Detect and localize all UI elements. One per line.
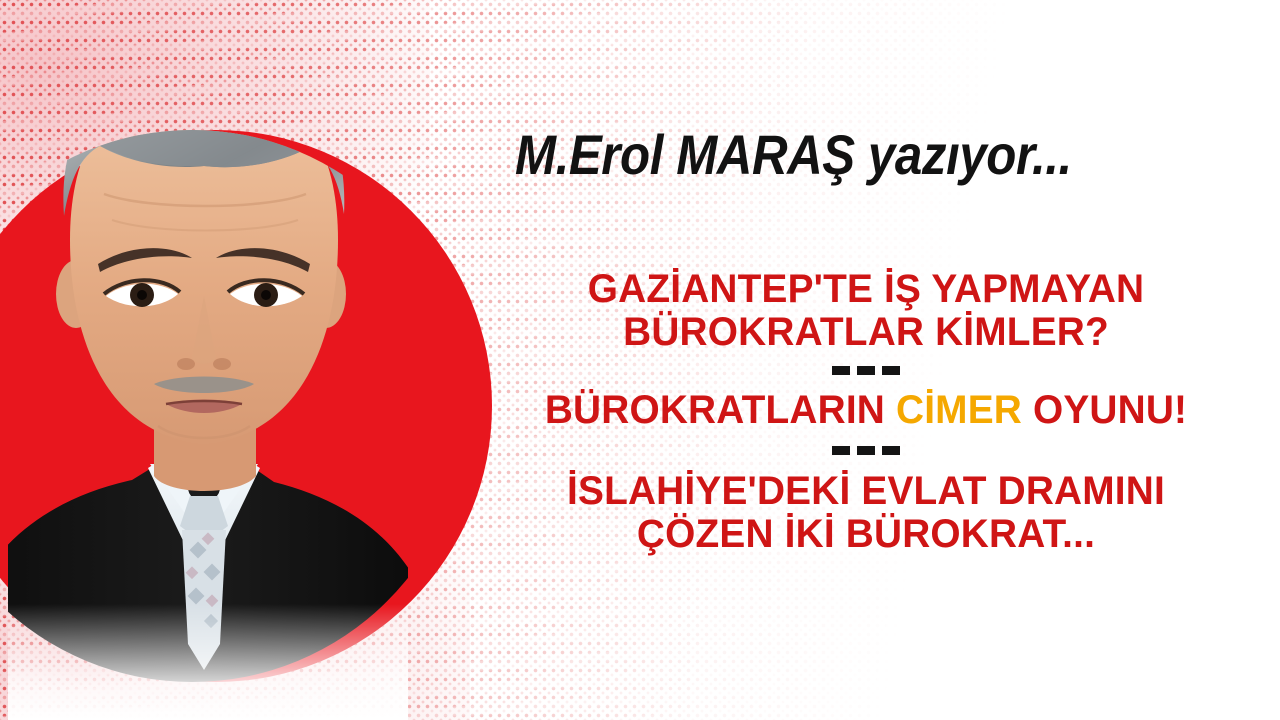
headline-2-prefix: BÜROKRATLARIN (545, 388, 896, 432)
news-banner-image: M.Erol MARAŞ yazıyor... GAZİANTEP'TE İŞ … (0, 0, 1280, 720)
separator-2 (460, 444, 1272, 456)
separator-dash (857, 366, 875, 375)
headline-2-suffix: OYUNU! (1022, 388, 1187, 432)
headline-stack: GAZİANTEP'TE İŞ YAPMAYAN BÜROKRATLAR KİM… (460, 268, 1272, 556)
separator-1 (460, 365, 1272, 377)
separator-dash (857, 446, 875, 455)
headline-2-accent: CİMER (896, 388, 1022, 432)
separator-dash (882, 366, 900, 375)
author-portrait (8, 44, 408, 720)
separator-dash (832, 366, 850, 375)
byline-text: M.Erol MARAŞ yazıyor... (515, 127, 1072, 183)
headline-2: BÜROKRATLARIN CİMER OYUNU! (472, 389, 1260, 432)
separator-dash (882, 446, 900, 455)
byline: M.Erol MARAŞ yazıyor... (515, 118, 1260, 192)
headline-3: İSLAHİYE'DEKİ EVLAT DRAMINI ÇÖZEN İKİ BÜ… (472, 470, 1260, 556)
separator-dash (832, 446, 850, 455)
headline-1: GAZİANTEP'TE İŞ YAPMAYAN BÜROKRATLAR KİM… (472, 268, 1260, 354)
